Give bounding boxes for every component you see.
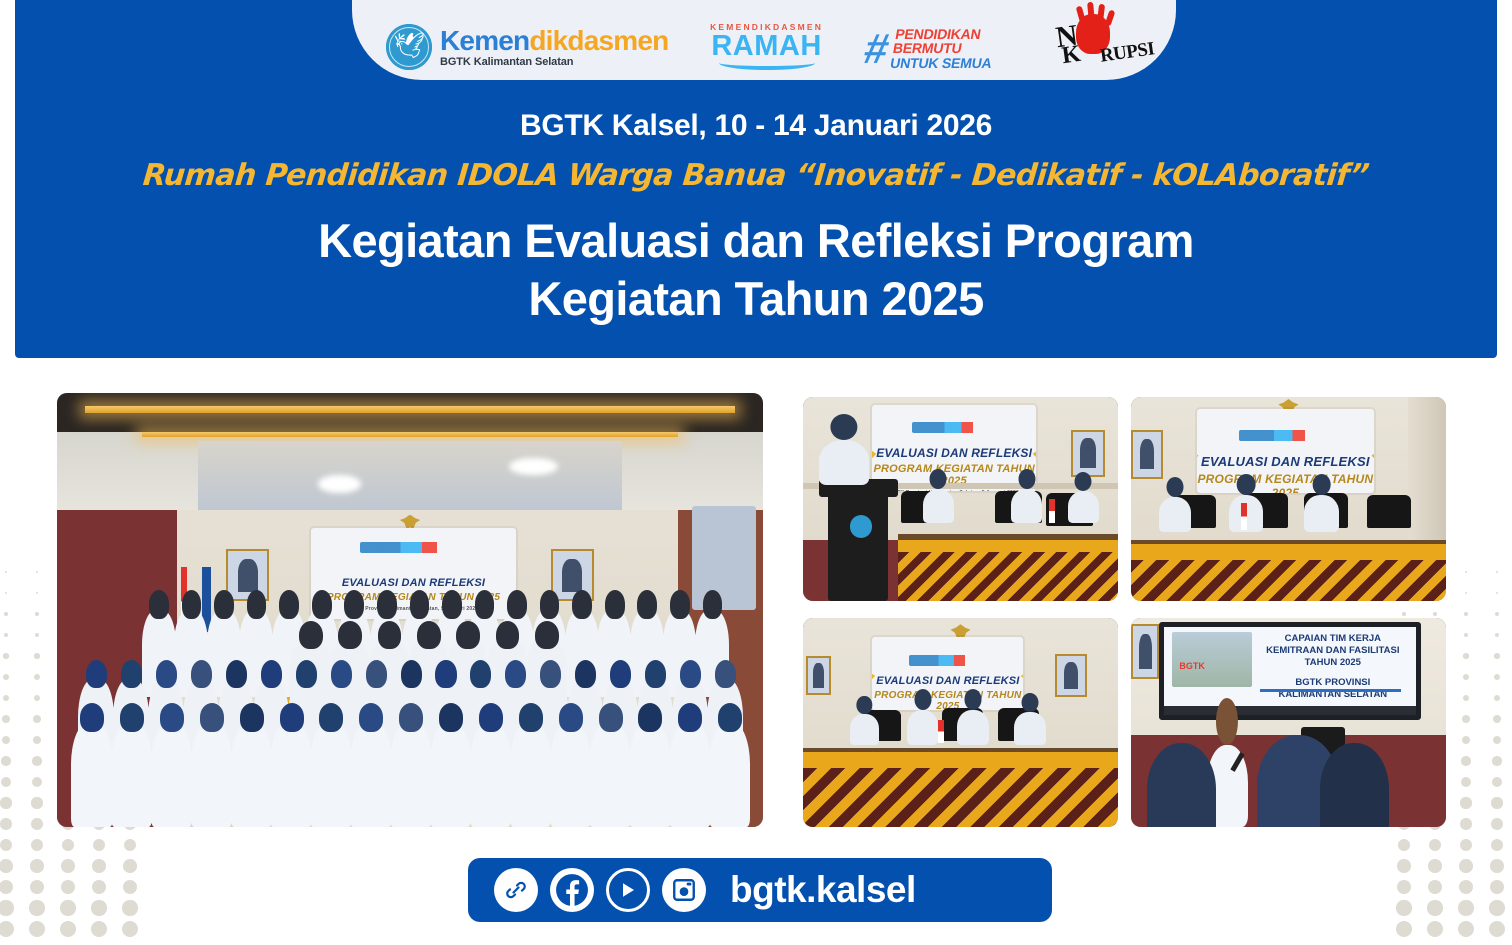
slide-line3: TAHUN 2025 xyxy=(1257,657,1408,669)
event-date-line: BGTK Kalsel, 10 - 14 Januari 2026 xyxy=(0,109,1512,143)
group-photo-participants[interactable]: EVALUASI DAN REFLEKSI PROGRAM KEGIATAN T… xyxy=(57,393,763,827)
page-title-line1: Kegiatan Evaluasi dan Refleksi Program xyxy=(0,212,1512,270)
banner-line1: EVALUASI DAN REFLEKSI xyxy=(1197,454,1373,469)
facebook-icon[interactable] xyxy=(550,868,594,912)
stage-banner: EVALUASI DAN REFLEKSI PROGRAM KEGIATAN T… xyxy=(872,637,1023,710)
stage-banner: EVALUASI DAN REFLEKSI PROGRAM KEGIATAN T… xyxy=(872,405,1036,491)
youtube-icon[interactable] xyxy=(606,868,650,912)
photo-speaker-at-podium[interactable]: EVALUASI DAN REFLEKSI PROGRAM KEGIATAN T… xyxy=(803,397,1118,601)
page-title-line2: Kegiatan Tahun 2025 xyxy=(0,270,1512,328)
kemen-word-part1: Kemen xyxy=(440,25,529,56)
logo-no-korupsi: N K RUPSI xyxy=(1036,12,1142,70)
instagram-icon[interactable] xyxy=(662,868,706,912)
logo-strip: 🕊 Kemendikdasmen BGTK Kalimantan Selatan… xyxy=(352,0,1176,80)
slide-line2: KEMITRAAN DAN FASILITASI xyxy=(1257,645,1408,657)
banner-line1: EVALUASI DAN REFLEKSI xyxy=(872,675,1023,687)
social-handle: bgtk.kalsel xyxy=(730,869,916,911)
stage-banner: EVALUASI DAN REFLEKSI PROGRAM KEGIATAN T… xyxy=(1197,409,1373,493)
logo-kemendikdasmen: 🕊 Kemendikdasmen BGTK Kalimantan Selatan xyxy=(386,24,668,70)
photo-presenter-with-slide[interactable]: BGTK CAPAIAN TIM KERJA KEMITRAAN DAN FAS… xyxy=(1131,618,1446,827)
link-icon[interactable] xyxy=(494,868,538,912)
hashtag-icon: # xyxy=(861,31,892,67)
projection-screen: BGTK CAPAIAN TIM KERJA KEMITRAAN DAN FAS… xyxy=(1159,622,1420,720)
page-title: Kegiatan Evaluasi dan Refleksi Program K… xyxy=(0,212,1512,329)
kemen-word-part2: dikdasmen xyxy=(529,25,668,56)
ramah-main-text: RAMAH xyxy=(710,32,823,61)
banner-line2: PROGRAM KEGIATAN TAHUN 2025 xyxy=(1197,472,1373,493)
photo-panel-three-speakers[interactable]: EVALUASI DAN REFLEKSI PROGRAM KEGIATAN T… xyxy=(1131,397,1446,601)
korupsi-letter-k: K xyxy=(1060,41,1082,70)
logo-ramah: KEMENDIKDASMEN RAMAH xyxy=(710,23,823,71)
pbu-line3: UNTUK SEMUA xyxy=(889,56,993,70)
social-bar: bgtk.kalsel xyxy=(468,858,1052,922)
banner-line1: EVALUASI DAN REFLEKSI xyxy=(872,446,1036,460)
event-tagline: Rumah Pendidikan IDOLA Warga Banua “Inov… xyxy=(0,158,1512,193)
photo-panel-four-speakers[interactable]: EVALUASI DAN REFLEKSI PROGRAM KEGIATAN T… xyxy=(803,618,1118,827)
logo-pendidikan-bermutu: # PENDIDIKAN BERMUTU UNTUK SEMUA xyxy=(865,27,995,70)
slide-line4: BGTK PROVINSI xyxy=(1257,677,1408,689)
slide-line1: CAPAIAN TIM KERJA xyxy=(1257,633,1408,645)
banner-line1: EVALUASI DAN REFLEKSI xyxy=(311,577,516,589)
tut-wuri-handayani-emblem-icon: 🕊 xyxy=(386,24,432,70)
poster-canvas: 🕊 Kemendikdasmen BGTK Kalimantan Selatan… xyxy=(0,0,1512,945)
banner-line2: PROGRAM KEGIATAN TAHUN 2025 xyxy=(872,690,1023,710)
kemen-subtitle: BGTK Kalimantan Selatan xyxy=(440,57,668,68)
pbu-line2: BERMUTU xyxy=(892,41,996,55)
